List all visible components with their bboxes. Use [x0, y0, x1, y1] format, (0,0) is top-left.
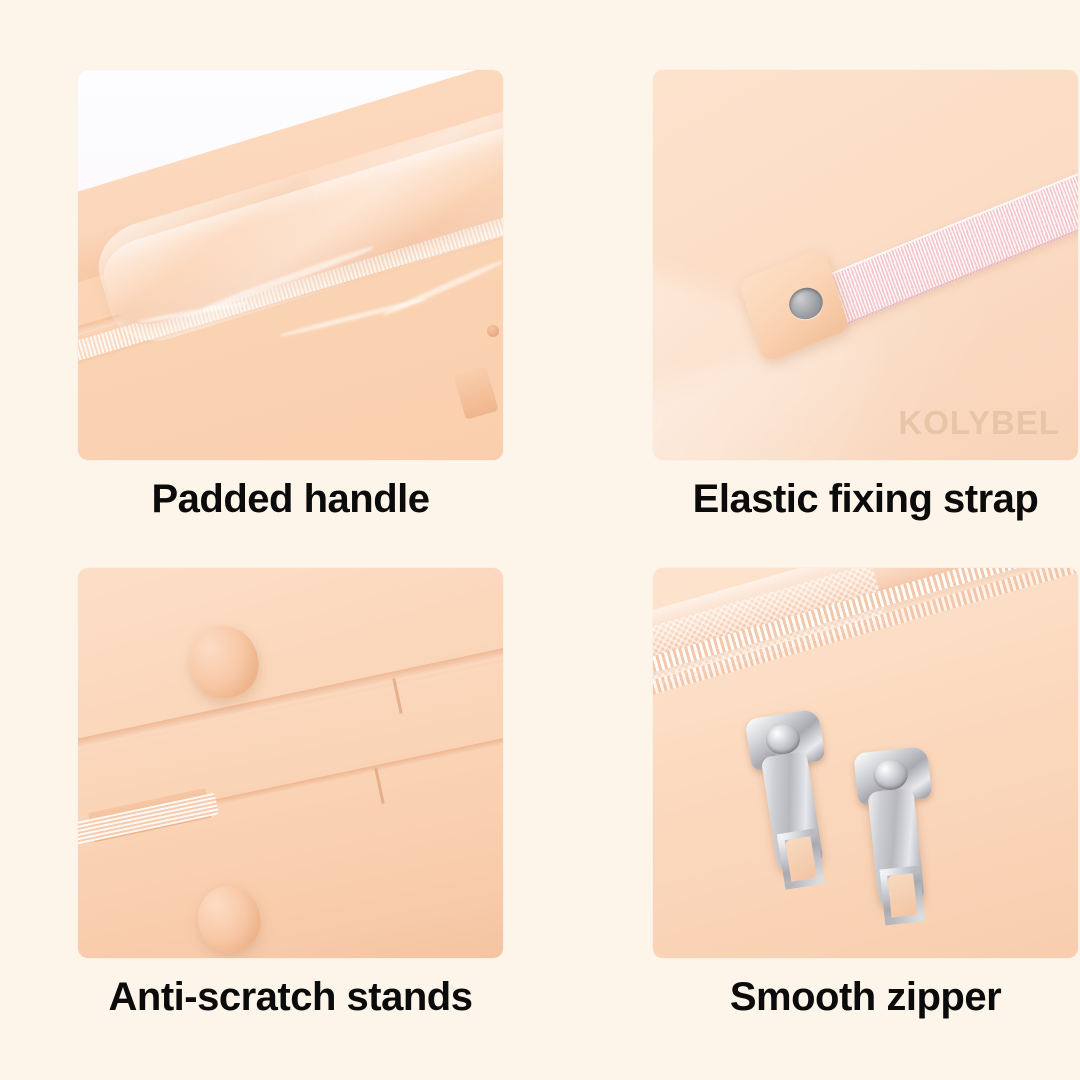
- feature-card-anti-scratch-stands[interactable]: Anti-scratch stands: [78, 568, 503, 1066]
- photo-anti-scratch-stands[interactable]: [78, 568, 503, 958]
- feature-caption-padded-handle: Padded handle: [78, 468, 503, 530]
- feature-card-smooth-zipper[interactable]: Smooth zipper: [653, 568, 1078, 1066]
- feature-grid: Padded handle KOLYBEL Elastic fixing str…: [0, 0, 1080, 1080]
- feature-card-padded-handle[interactable]: Padded handle: [78, 70, 503, 568]
- feature-caption-elastic-fixing-strap: Elastic fixing strap: [653, 468, 1078, 530]
- photo-elastic-fixing-strap[interactable]: KOLYBEL: [653, 70, 1078, 460]
- feature-card-elastic-fixing-strap[interactable]: KOLYBEL Elastic fixing strap: [653, 70, 1078, 568]
- infographic-board: Padded handle KOLYBEL Elastic fixing str…: [0, 0, 1080, 1080]
- zipper-pull-loop: [879, 865, 925, 925]
- photo-smooth-zipper[interactable]: [653, 568, 1078, 958]
- zipper-pull-loop: [777, 828, 825, 890]
- feature-caption-anti-scratch-stands: Anti-scratch stands: [78, 966, 503, 1028]
- brand-watermark: KOLYBEL: [898, 404, 1060, 442]
- feature-caption-smooth-zipper: Smooth zipper: [653, 966, 1078, 1028]
- handle-rivet: [487, 325, 499, 337]
- photo-padded-handle[interactable]: [78, 70, 503, 460]
